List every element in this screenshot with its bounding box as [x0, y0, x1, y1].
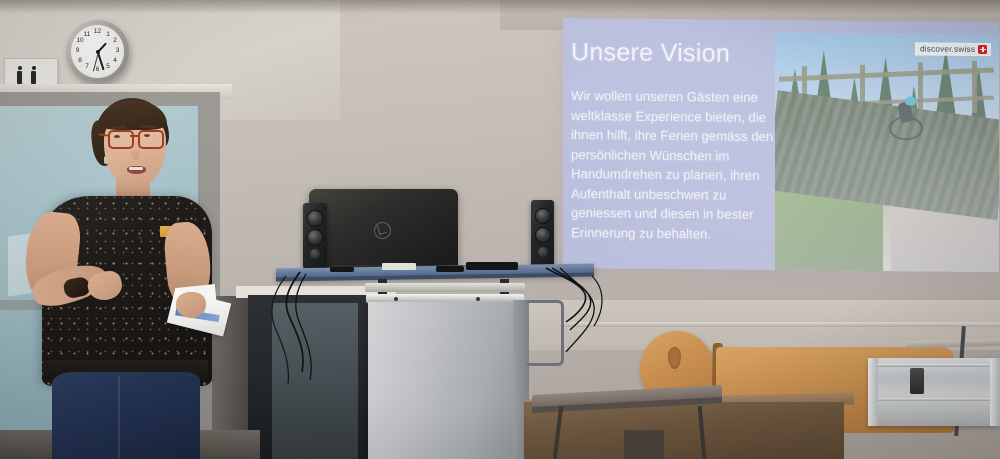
- speaker-left: [303, 203, 327, 269]
- clock-center-pin: [96, 50, 100, 54]
- jeans: [52, 372, 200, 459]
- speaker-driver: [307, 229, 324, 246]
- laptop[interactable]: [309, 189, 458, 268]
- ceiling-shadow: [0, 0, 1000, 14]
- female-figure-icon: [31, 71, 36, 84]
- speaker-right: [531, 200, 554, 270]
- swiss-flag-icon: [978, 45, 987, 54]
- cable-connector: [330, 267, 354, 272]
- wall-clock: 12 1 2 3 4 5 6 7 8 9 10 11: [66, 20, 129, 83]
- photo-mountain-biker: [891, 96, 923, 138]
- helmet-icon: [905, 96, 916, 105]
- speaker-driver: [535, 208, 551, 224]
- discover-swiss-logo: discover.swiss: [915, 42, 991, 56]
- glasses-lens-right: [138, 130, 164, 149]
- lectern-screw: [476, 297, 480, 301]
- speaker-knob[interactable]: [538, 247, 548, 257]
- av-table-rail: [365, 283, 525, 292]
- jeans-seam: [118, 376, 120, 459]
- rear-doorway[interactable]: [248, 295, 388, 459]
- rear-door-glass: [272, 303, 358, 459]
- slide-title: Unsere Vision: [571, 38, 730, 69]
- presentation-scene: 12 1 2 3 4 5 6 7 8 9 10 11: [0, 0, 1000, 459]
- speaker-knob[interactable]: [310, 249, 320, 259]
- adapter-box: [436, 266, 464, 272]
- clock-numeral: 9: [73, 48, 83, 55]
- case-latch[interactable]: [910, 368, 924, 394]
- clock-numeral: 8: [75, 58, 85, 65]
- teeth: [129, 167, 143, 170]
- slide-body-text: Wir wollen unseren Gästen eine weltklass…: [571, 86, 779, 244]
- wall-ledge: [560, 322, 1000, 327]
- clock-numeral: 3: [113, 48, 123, 55]
- glasses: [107, 130, 163, 145]
- discover-swiss-logo-text: discover.swiss: [920, 44, 975, 54]
- nose: [131, 146, 140, 160]
- projected-slide: Unsere Vision Wir wollen unseren Gästen …: [563, 18, 999, 272]
- aluminium-case[interactable]: [868, 358, 1000, 426]
- speaker-driver: [535, 227, 551, 243]
- clock-numeral: 10: [75, 38, 85, 45]
- clock-numeral: 11: [82, 32, 92, 39]
- lectern-screw: [394, 297, 398, 301]
- dell-logo-icon: [374, 222, 391, 239]
- speaker-driver: [307, 210, 324, 227]
- wall-bracket: [527, 300, 564, 366]
- clock-face: 12 1 2 3 4 5 6 7 8 9 10 11: [71, 25, 124, 78]
- glasses-lens-left: [108, 130, 134, 149]
- slide-photo: discover.swiss: [775, 33, 999, 272]
- remote-control[interactable]: [466, 262, 518, 270]
- clock-numeral: 2: [110, 38, 120, 45]
- clock-numeral: 7: [82, 64, 92, 71]
- male-figure-icon: [17, 71, 22, 84]
- table-support: [624, 430, 664, 459]
- glasses-bridge: [130, 135, 138, 137]
- white-device: [382, 263, 416, 270]
- earring: [104, 156, 108, 164]
- lectern-cabinet[interactable]: [368, 302, 520, 459]
- clock-numeral: 12: [93, 29, 103, 36]
- hand-right: [176, 292, 206, 318]
